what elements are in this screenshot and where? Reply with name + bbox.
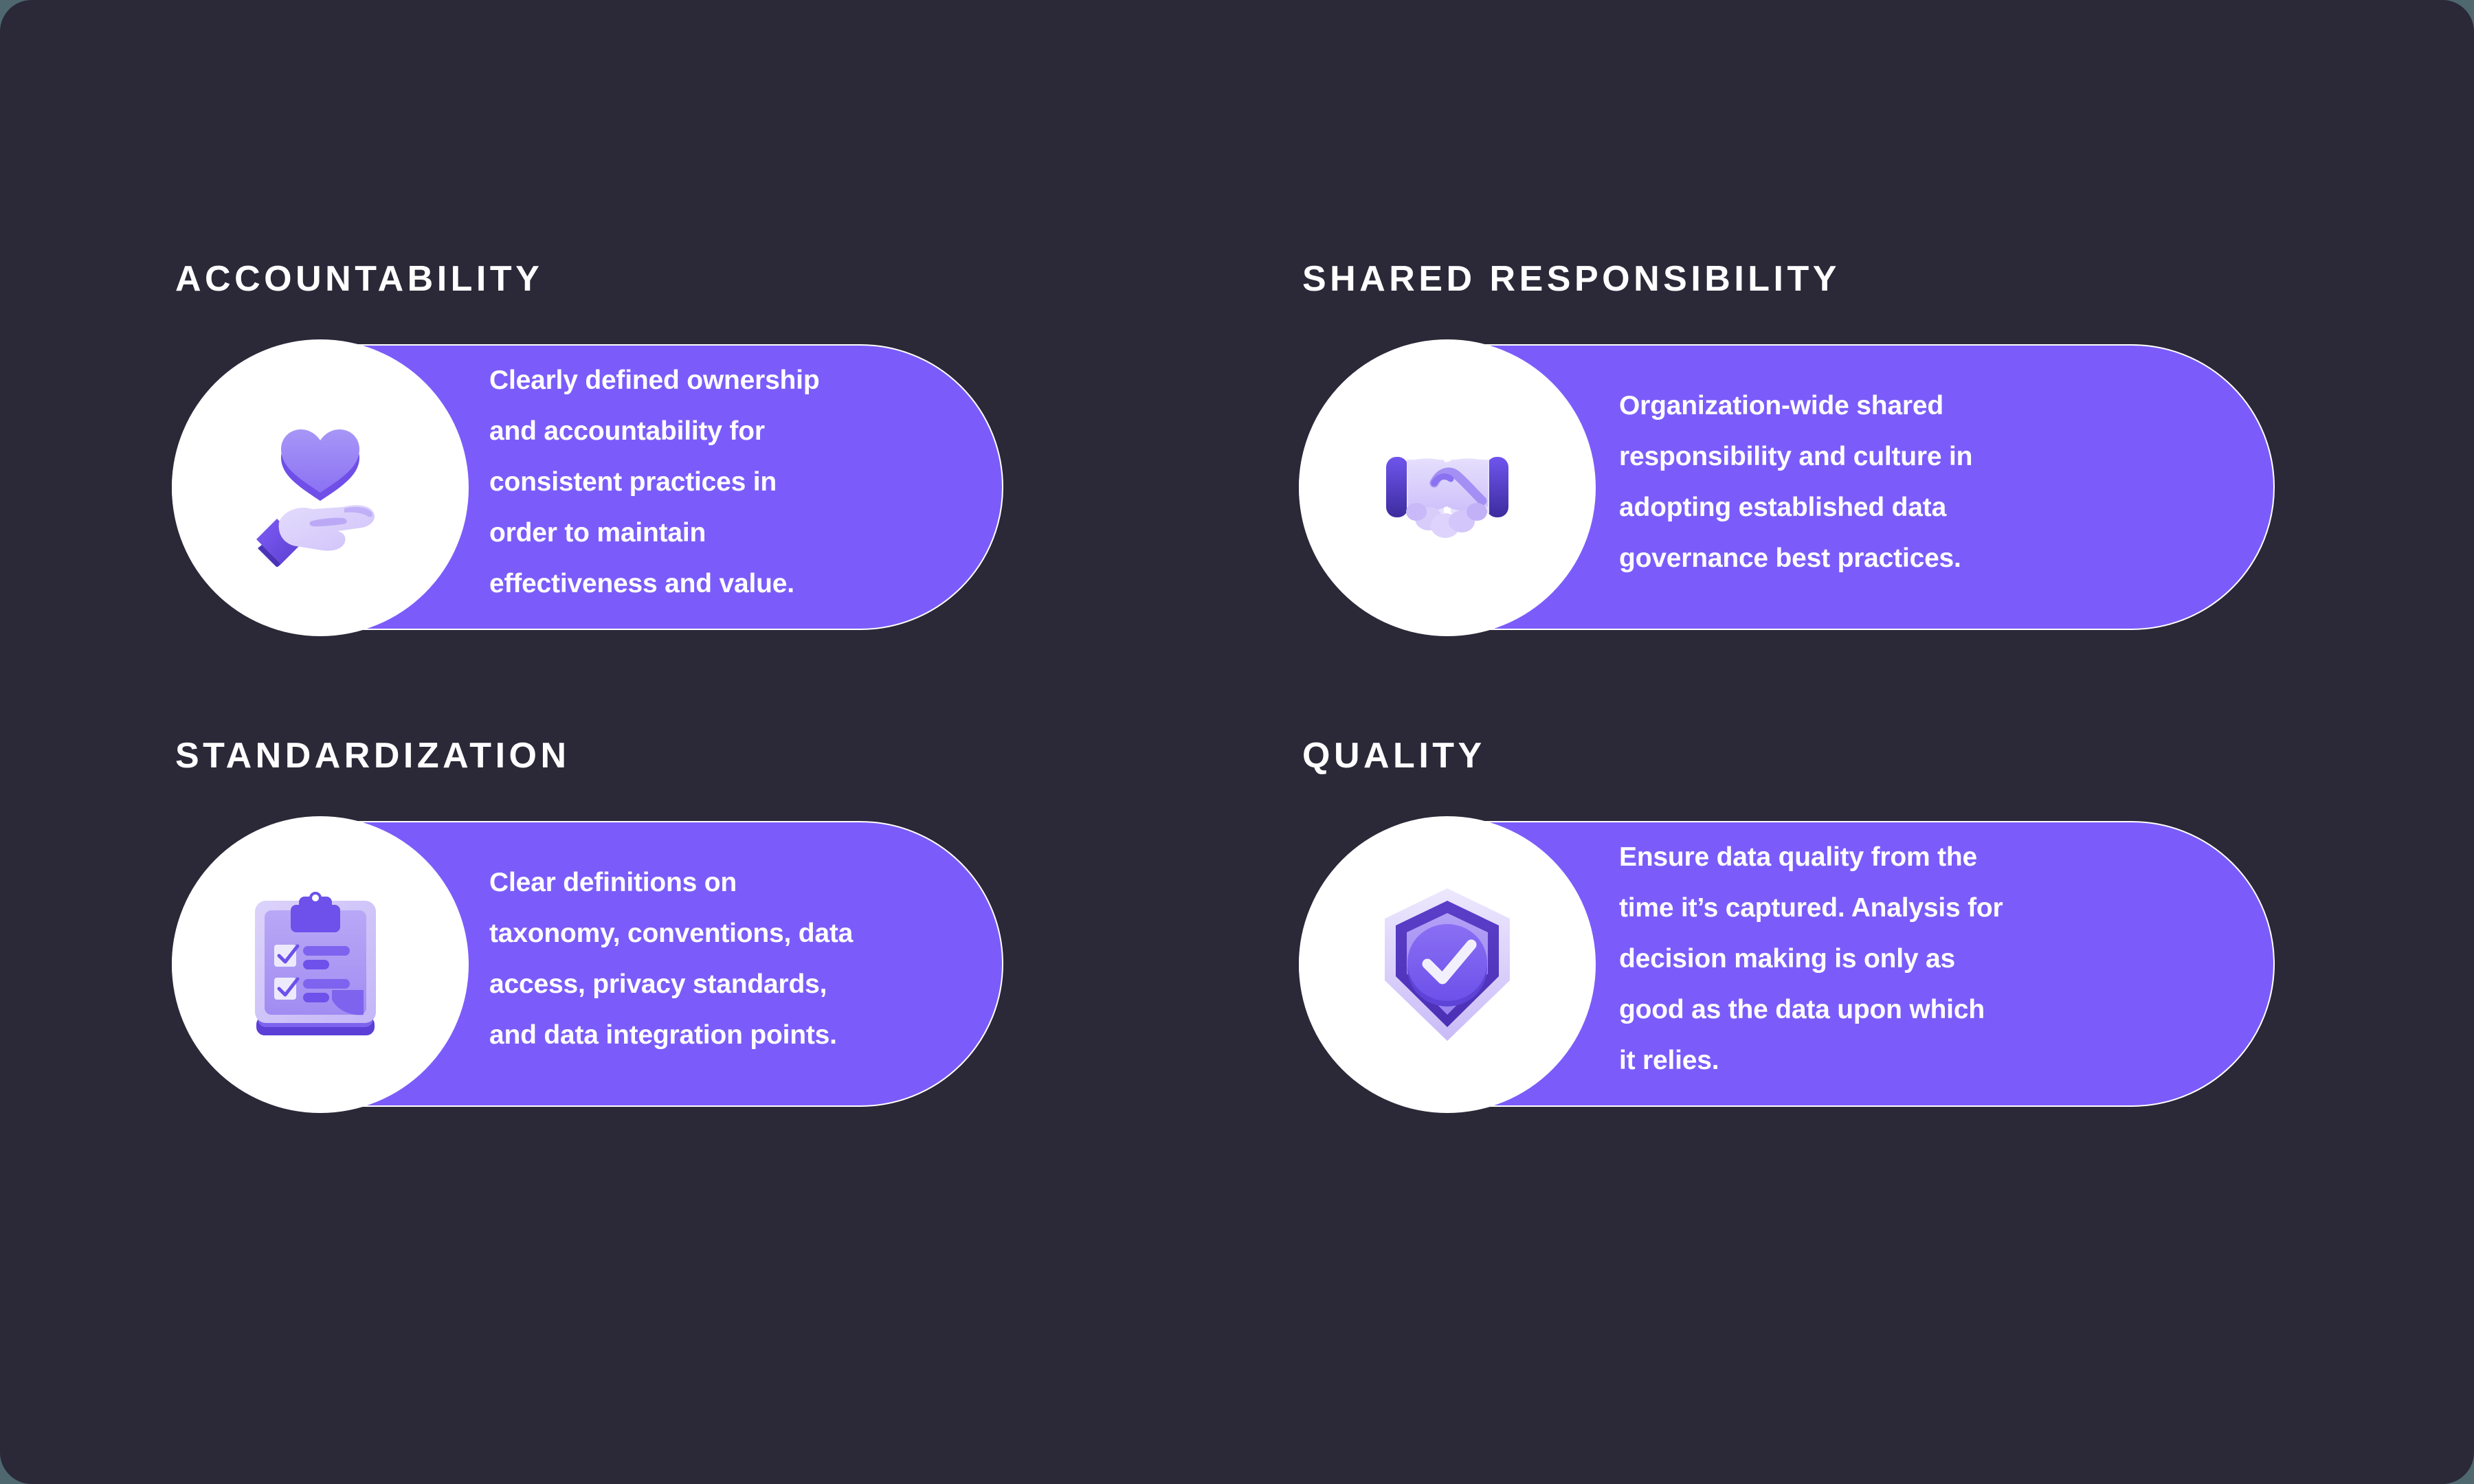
card-body: Clearly defined ownership and accountabi…	[489, 339, 847, 625]
card-body: Clear definitions on taxonomy, conventio…	[489, 816, 874, 1102]
principles-grid: ACCOUNTABILITY Clearly defined ownership…	[172, 261, 2302, 1112]
card-title: QUALITY	[1302, 738, 2426, 774]
handshake-icon	[1368, 409, 1526, 567]
card-pill-wrapper: Clear definitions on taxonomy, conventio…	[172, 816, 1299, 1112]
card-quality: QUALITY Ensure data quality from the tim…	[1299, 738, 2426, 1112]
card-title: SHARED RESPONSIBILITY	[1302, 261, 2426, 297]
card-body: Organization-wide shared responsibility …	[1619, 339, 1983, 625]
clipboard-checklist-icon	[248, 886, 392, 1044]
icon-circle	[172, 816, 469, 1113]
shield-check-icon	[1374, 884, 1522, 1046]
card-accountability: ACCOUNTABILITY Clearly defined ownership…	[172, 261, 1299, 635]
card-standardization: STANDARDIZATION Clear definitions on tax…	[172, 738, 1299, 1112]
card-body-text: Clear definitions on taxonomy, conventio…	[489, 857, 874, 1061]
heart-in-hand-icon	[241, 409, 399, 567]
card-body-text: Ensure data quality from the time it’s c…	[1619, 832, 2004, 1086]
card-body-text: Organization-wide shared responsibility …	[1619, 381, 1983, 584]
card-pill-wrapper: Organization-wide shared responsibility …	[1299, 339, 2426, 635]
card-title: STANDARDIZATION	[175, 738, 1299, 774]
card-pill-wrapper: Ensure data quality from the time it’s c…	[1299, 816, 2426, 1112]
icon-circle	[1299, 339, 1596, 636]
card-pill-wrapper: Clearly defined ownership and accountabi…	[172, 339, 1299, 635]
card-title: ACCOUNTABILITY	[175, 261, 1299, 297]
icon-circle	[172, 339, 469, 636]
card-body: Ensure data quality from the time it’s c…	[1619, 816, 2004, 1102]
page-canvas: ACCOUNTABILITY Clearly defined ownership…	[0, 0, 2474, 1484]
icon-circle	[1299, 816, 1596, 1113]
card-shared-responsibility: SHARED RESPONSIBILITY Organization-wide …	[1299, 261, 2426, 635]
card-body-text: Clearly defined ownership and accountabi…	[489, 355, 847, 609]
